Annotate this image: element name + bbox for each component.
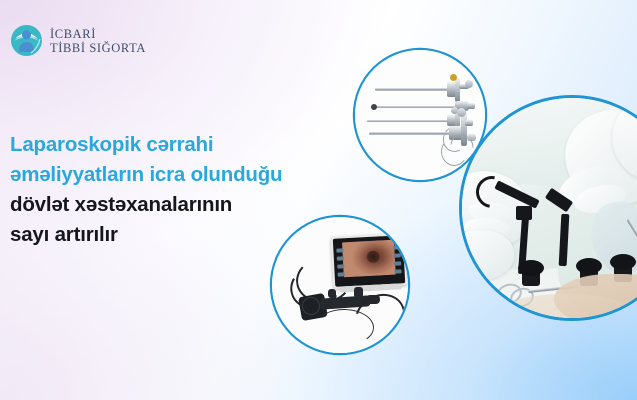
brand-logo[interactable]: İCBARİ TİBBİ SIĞORTA: [10, 24, 146, 57]
circular-person-emblem-icon: [10, 24, 43, 57]
brand-line-1: İCBARİ: [50, 27, 146, 41]
laparoscopic-instruments-photo: [355, 50, 485, 180]
banner-canvas: İCBARİ TİBBİ SIĞORTA Laparoskopik cərrah…: [0, 0, 637, 400]
brand-logo-text: İCBARİ TİBBİ SIĞORTA: [50, 27, 146, 55]
headline-line-1: Laparoskopik cərrahi: [10, 130, 355, 160]
headline-line-2: əməliyyatların icra olunduğu: [10, 160, 355, 190]
headline-line-3: dövlət xəstəxanalarının: [10, 190, 355, 220]
surgery-operation-photo: [462, 98, 637, 318]
brand-line-2: TİBBİ SIĞORTA: [50, 41, 146, 55]
endoscope-with-monitor-photo: [272, 217, 408, 353]
